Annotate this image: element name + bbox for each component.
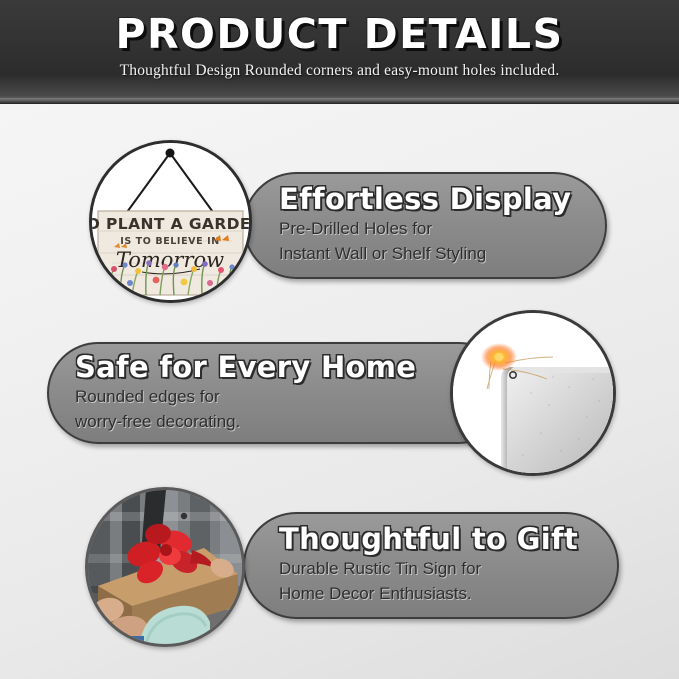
feature-title: Effortless Display [279, 183, 605, 216]
rounded-corner-illustration [453, 313, 613, 473]
feature-image-gift-box [85, 487, 245, 647]
feature-pill-effortless-display: Effortless Display Pre-Drilled Holes for… [243, 172, 607, 279]
denim-cuff [128, 636, 144, 644]
feature-pill-safe-for-every-home: Safe for Every Home Rounded edges for wo… [47, 342, 510, 444]
sign-text-line-3: Tomorrow [116, 248, 224, 272]
feature-image-hanging-garden-sign: TO PLANT A GARDEN IS TO BELIEVE IN Tomor… [89, 140, 252, 303]
feature-body-line-1: Rounded edges for [75, 384, 508, 409]
feature-body-line-2: worry-free decorating. [75, 409, 508, 434]
garden-sign-illustration: TO PLANT A GARDEN IS TO BELIEVE IN Tomor… [92, 143, 249, 300]
feature-body-line-2: Home Decor Enthusiasts. [279, 581, 617, 606]
header-banner: PRODUCT DETAILS Thoughtful Design Rounde… [0, 0, 679, 104]
gift-box-illustration [88, 490, 242, 644]
feature-body-line-1: Durable Rustic Tin Sign for [279, 556, 617, 581]
sign-text-line-1: TO PLANT A GARDEN [92, 215, 249, 233]
page-subtitle: Thoughtful Design Rounded corners and ea… [0, 62, 679, 80]
feature-pill-thoughtful-to-gift: Thoughtful to Gift Durable Rustic Tin Si… [243, 512, 619, 619]
page-title: PRODUCT DETAILS [0, 10, 679, 58]
feature-body-line-2: Instant Wall or Shelf Styling [279, 241, 605, 266]
feature-title: Thoughtful to Gift [279, 523, 617, 556]
feature-title: Safe for Every Home [75, 351, 508, 384]
product-details-infographic: PRODUCT DETAILS Thoughtful Design Rounde… [0, 0, 679, 679]
sign-text-line-2: IS TO BELIEVE IN [120, 236, 220, 247]
feature-body-line-1: Pre-Drilled Holes for [279, 216, 605, 241]
feature-image-rounded-corner-closeup [450, 310, 616, 476]
